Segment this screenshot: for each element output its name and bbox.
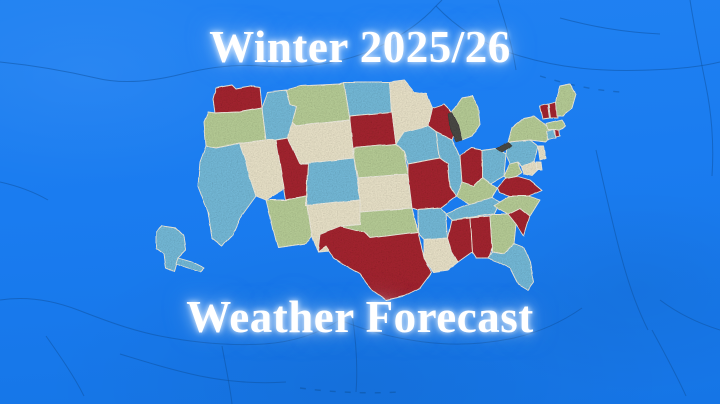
page-title-bottom: Weather Forecast: [0, 292, 720, 342]
page-title-top: Winter 2025/26: [0, 22, 720, 72]
state-AK-aleutians: [176, 258, 204, 272]
state-VT: [540, 104, 550, 119]
state-NJ: [538, 146, 546, 160]
state-CO: [300, 158, 360, 206]
state-TX: [318, 226, 432, 300]
state-AL: [470, 216, 492, 258]
state-VA: [498, 176, 542, 196]
state-NY: [508, 116, 552, 142]
state-NE: [354, 144, 408, 178]
forecast-graphic: Winter 2025/26 Weather Forecast: [0, 0, 720, 404]
state-KS: [358, 174, 412, 212]
state-CT: [546, 130, 556, 140]
state-AR: [418, 208, 448, 240]
state-IN: [460, 148, 482, 186]
state-MT: [286, 82, 350, 126]
state-ME: [556, 84, 576, 116]
state-WY: [288, 120, 354, 164]
state-OH: [482, 148, 506, 184]
state-DE: [536, 162, 542, 170]
state-WV: [504, 162, 522, 178]
state-MA: [546, 120, 566, 130]
state-WA: [213, 85, 262, 113]
state-AZ: [266, 196, 312, 248]
